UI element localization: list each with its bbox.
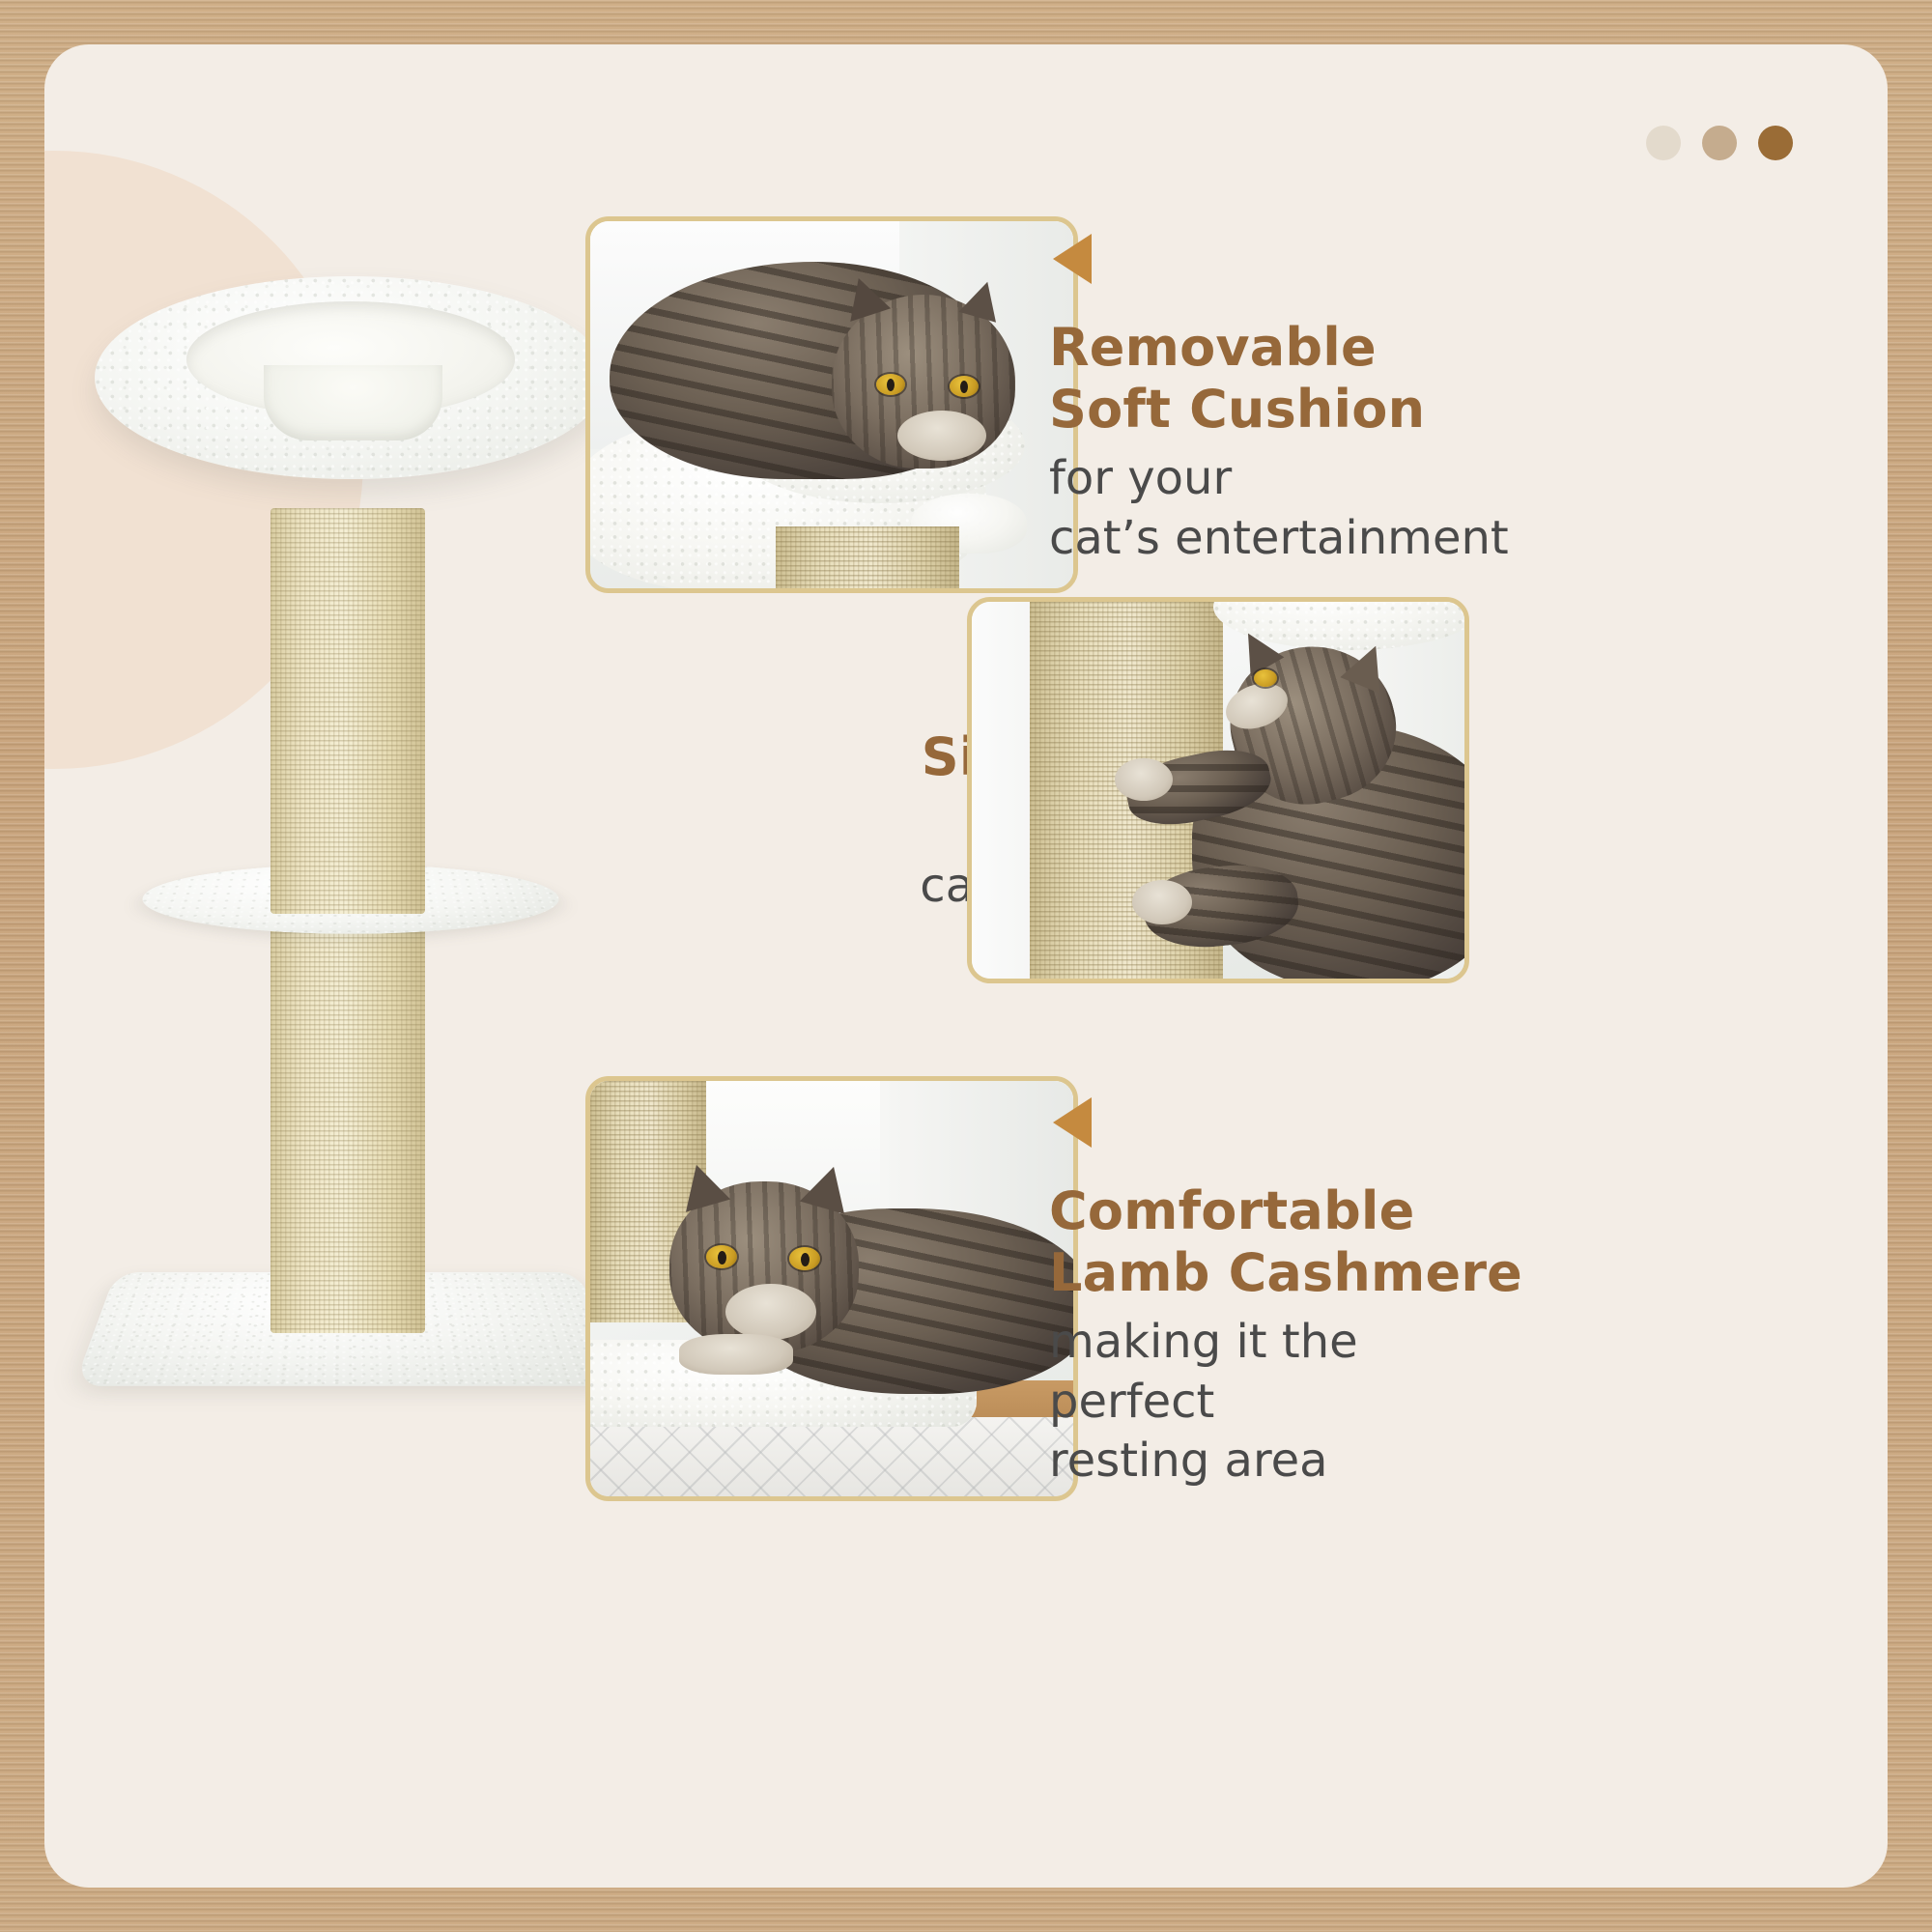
photo-removable-soft-cushion	[585, 216, 1078, 593]
dot-2	[1702, 126, 1737, 160]
feature-body-line-1: for your	[1049, 449, 1551, 508]
cat-paws	[679, 1334, 793, 1375]
patterned-rug	[590, 1417, 1073, 1496]
feature-body-line-1: making it the	[1049, 1313, 1590, 1372]
product-upper-sisal-post	[270, 508, 425, 914]
triangle-left-icon	[1053, 1097, 1092, 1148]
cat-paw	[1115, 758, 1173, 801]
cat-muzzle	[897, 411, 986, 461]
dot-3	[1758, 126, 1793, 160]
feature-title-line-2: Lamb Cashmere	[1049, 1242, 1590, 1304]
feature-body-line-2: cat’s entertainment	[1049, 509, 1551, 568]
cat-muzzle	[725, 1284, 816, 1340]
triangle-left-icon	[1053, 234, 1092, 284]
product-lower-sisal-post	[270, 927, 425, 1333]
content-panel: Removable Soft Cushion for your cat’s en…	[44, 44, 1888, 1888]
feature-comfortable-lamb-cashmere: Comfortable Lamb Cashmere making it the …	[1049, 1097, 1590, 1492]
photo-comfortable-lamb-cashmere	[585, 1076, 1078, 1501]
sisal-post-in-photo	[776, 526, 959, 593]
feature-title-line-1: Removable	[1049, 317, 1551, 379]
product-top-perch	[95, 276, 607, 479]
textured-outer-border: Removable Soft Cushion for your cat’s en…	[0, 0, 1932, 1932]
cat-paw-lower	[1132, 880, 1192, 924]
feature-removable-soft-cushion: Removable Soft Cushion for your cat’s en…	[1049, 234, 1551, 568]
feature-title-line-2: Soft Cushion	[1049, 379, 1551, 440]
cat-tree-product-photo	[62, 276, 641, 1416]
feature-body-line-3: resting area	[1049, 1432, 1590, 1491]
feature-body-line-2: perfect	[1049, 1373, 1590, 1432]
color-swatch-dots	[1646, 126, 1793, 160]
cat-eye-left	[1254, 669, 1277, 687]
dot-1	[1646, 126, 1681, 160]
product-top-perch-notch	[264, 365, 442, 440]
feature-title-line-1: Comfortable	[1049, 1180, 1590, 1242]
photo-sisal-posts	[967, 597, 1469, 983]
